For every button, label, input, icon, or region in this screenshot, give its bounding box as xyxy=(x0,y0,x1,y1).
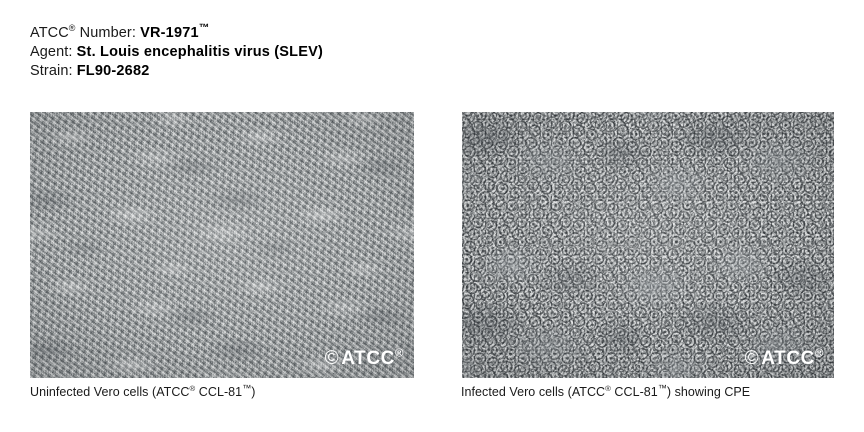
caption-uninfected: Uninfected Vero cells (ATCC® CCL-81™) xyxy=(30,385,255,399)
illumination-vignette xyxy=(30,112,414,378)
copyright-icon: © xyxy=(325,348,340,369)
registered-icon: ® xyxy=(395,348,404,360)
registered-icon: ® xyxy=(815,348,824,360)
illumination-vignette xyxy=(462,112,834,378)
copyright-icon: © xyxy=(745,348,760,369)
atcc-number-value: VR-1971™ xyxy=(140,25,209,41)
micrograph-image-infected: ©ATCC® xyxy=(462,112,834,378)
strain-label: Strain: xyxy=(30,63,73,79)
agent-value: St. Louis encephalitis virus (SLEV) xyxy=(77,44,323,60)
header-row-atcc-number: ATCC® Number: VR-1971™ xyxy=(30,24,323,43)
strain-value: FL90-2682 xyxy=(77,63,150,79)
figure-panel-infected: ©ATCC® xyxy=(462,112,834,378)
registered-icon: ® xyxy=(69,23,76,33)
trademark-icon: ™ xyxy=(658,383,667,393)
atcc-watermark: ©ATCC® xyxy=(325,348,404,370)
specimen-header: ATCC® Number: VR-1971™ Agent: St. Louis … xyxy=(30,24,323,81)
agent-label: Agent: xyxy=(30,44,73,60)
atcc-watermark: ©ATCC® xyxy=(745,348,824,370)
atcc-number-label: ATCC® Number: xyxy=(30,25,136,41)
figure-panel-uninfected: ©ATCC® xyxy=(30,112,414,378)
micrograph-image-uninfected: ©ATCC® xyxy=(30,112,414,378)
header-row-agent: Agent: St. Louis encephalitis virus (SLE… xyxy=(30,43,323,62)
caption-infected: Infected Vero cells (ATCC® CCL-81™) show… xyxy=(461,385,750,399)
trademark-icon: ™ xyxy=(199,23,210,34)
trademark-icon: ™ xyxy=(242,383,251,393)
header-row-strain: Strain: FL90-2682 xyxy=(30,62,323,81)
